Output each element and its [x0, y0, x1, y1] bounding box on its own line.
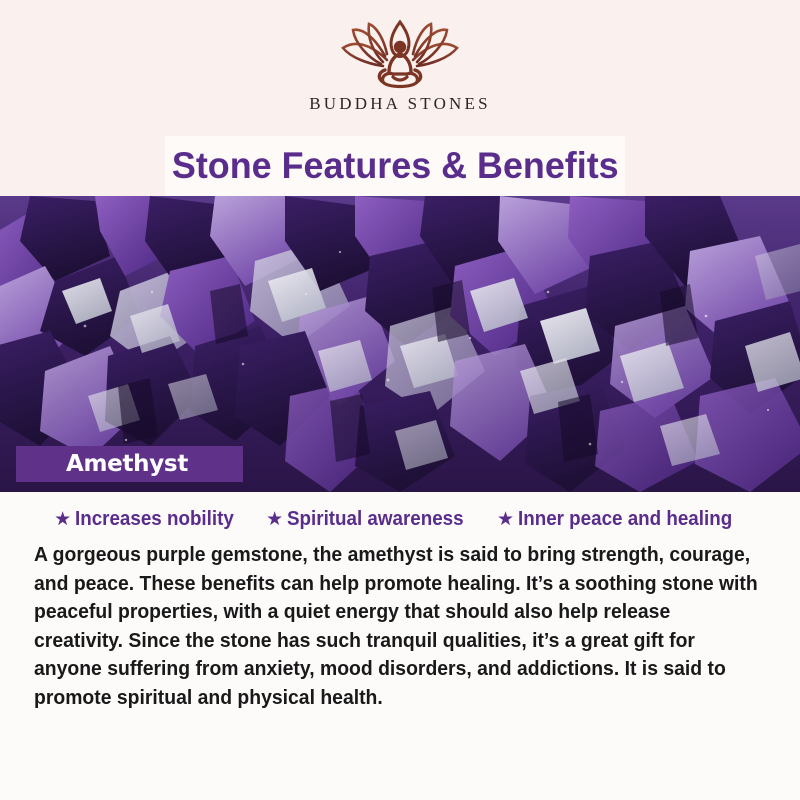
stone-description: A gorgeous purple gemstone, the amethyst…: [34, 541, 764, 712]
star-icon: ★: [266, 510, 283, 529]
benefit-label: Increases nobility: [75, 508, 234, 531]
amethyst-hero-image: Amethyst: [0, 196, 800, 492]
star-icon: ★: [54, 510, 71, 529]
brand-name: BUDDHA STONES: [309, 94, 491, 114]
benefit-item: ★ Spiritual awareness: [266, 508, 475, 531]
benefits-list: ★ Increases nobility ★ Spiritual awarene…: [34, 508, 766, 531]
star-icon: ★: [497, 510, 514, 529]
footer-spacer: [0, 700, 800, 800]
stone-name-badge: Amethyst: [16, 446, 243, 482]
lotus-meditation-icon: [325, 14, 475, 92]
benefit-label: Spiritual awareness: [287, 508, 464, 531]
stone-info-card: BUDDHA STONES Stone Features & Benefits: [0, 0, 800, 800]
brand-header: BUDDHA STONES: [0, 0, 800, 136]
title-panel: Stone Features & Benefits: [165, 136, 625, 196]
benefit-item: ★ Increases nobility: [54, 508, 244, 531]
stone-content: ★ Increases nobility ★ Spiritual awarene…: [0, 492, 800, 700]
page-title: Stone Features & Benefits: [172, 145, 619, 187]
benefit-item: ★ Inner peace and healing: [497, 508, 746, 531]
title-band: Stone Features & Benefits: [0, 136, 800, 196]
benefit-label: Inner peace and healing: [518, 508, 732, 531]
stone-name-text: Amethyst: [16, 451, 188, 477]
